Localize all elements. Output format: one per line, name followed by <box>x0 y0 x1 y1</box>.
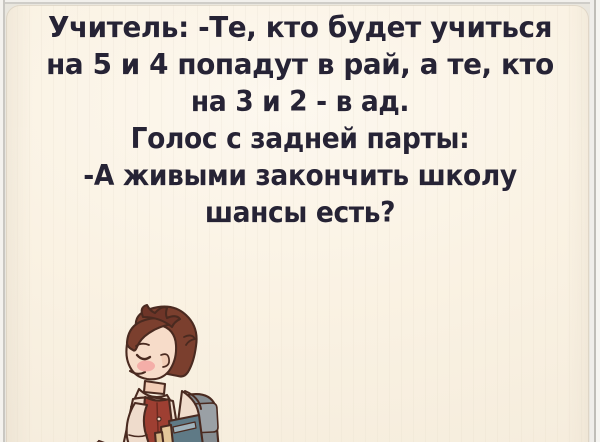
joke-line-4: Голос с задней парты: <box>27 120 574 157</box>
boy-vest-button-1 <box>157 417 161 421</box>
joke-line-1: Учитель: -Те, кто будет учиться <box>13 9 586 46</box>
boy-cheek <box>137 361 155 372</box>
joke-line-3: на 3 и 2 - в ад. <box>27 83 574 120</box>
joke-card: Учитель: -Те, кто будет учиться на 5 и 4… <box>0 0 600 442</box>
schoolboy-illustration <box>83 303 263 442</box>
joke-line-5: -А живыми закончить школу <box>27 157 574 194</box>
joke-line-6: шансы есть? <box>27 194 574 231</box>
joke-line-2: на 5 и 4 попадут в рай, а те, кто <box>13 46 586 83</box>
joke-text-block: Учитель: -Те, кто будет учиться на 5 и 4… <box>0 9 600 231</box>
boy-neck <box>144 381 165 394</box>
